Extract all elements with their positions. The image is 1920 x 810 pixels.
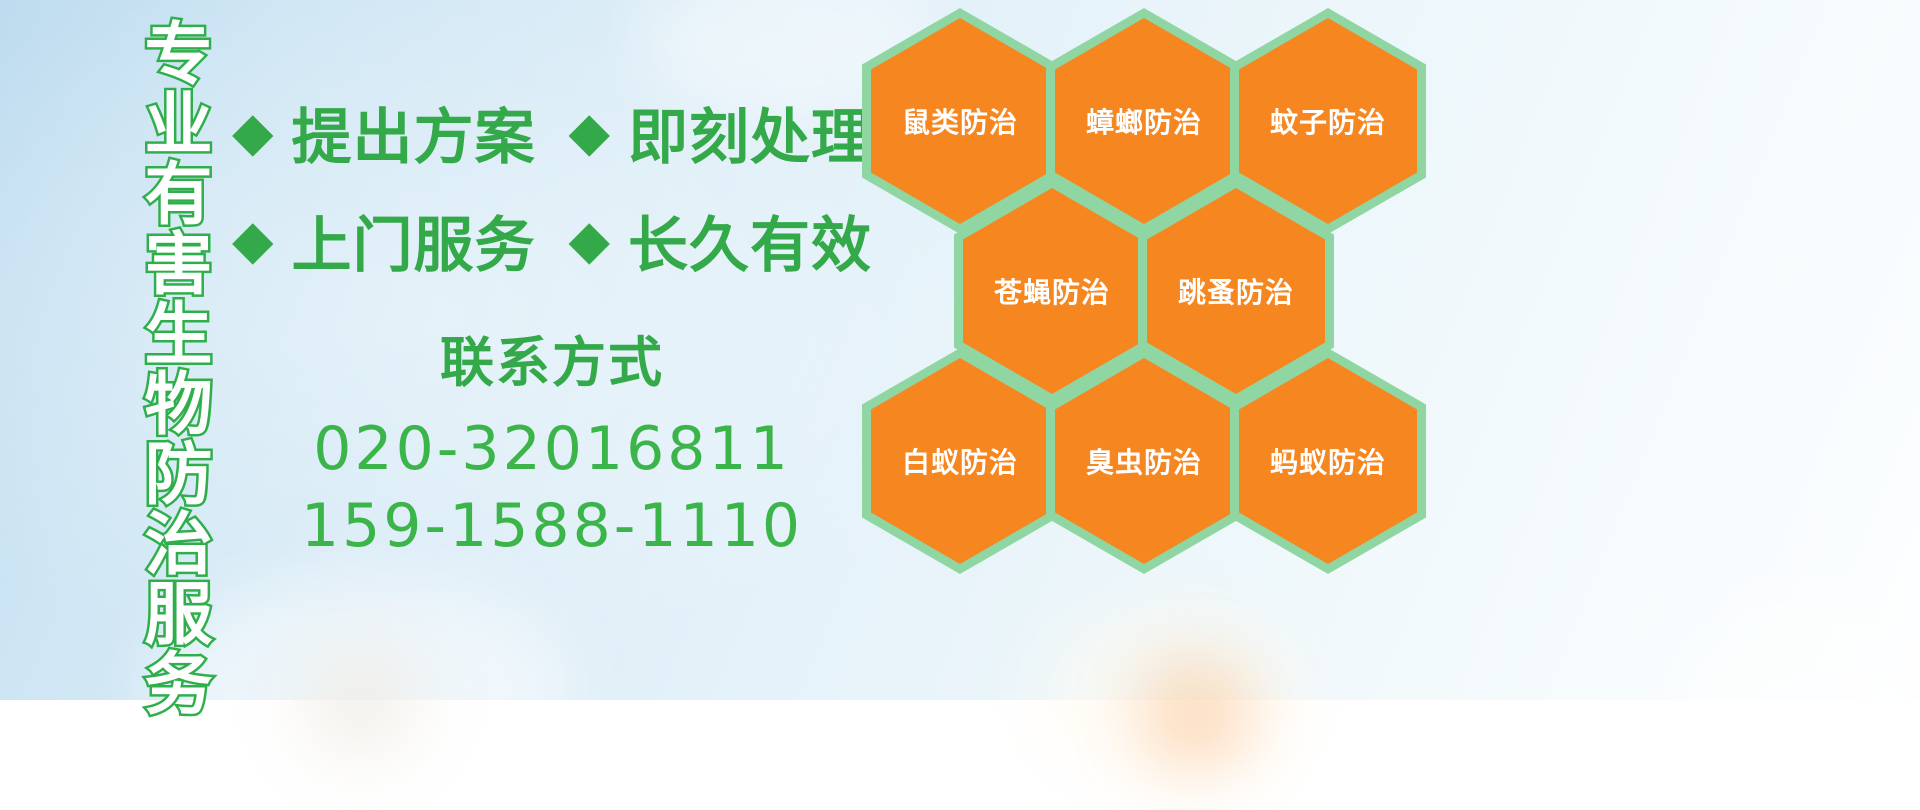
pest-control-banner: 专业有害生物防治服务 ◆ 提出方案 ◆ 即刻处理 ◆ 上门服务 ◆ 长久有效 — [0, 0, 1920, 700]
hex-label: 苍蝇防治 — [994, 271, 1110, 311]
vertical-headline: 专业有害生物防治服务 — [108, 18, 204, 562]
feature-row: ◆ 提出方案 ◆ 即刻处理 — [232, 78, 872, 186]
hex-label: 蚊子防治 — [1270, 101, 1386, 141]
feature-item: ◆ 提出方案 — [232, 89, 536, 176]
service-honeycomb: 鼠类防治 蟑螂防治 蚊子防治 苍蝇防治 跳蚤防治 白蚁防治 臭虫防治 蚂蚁防治 — [856, 0, 1476, 580]
diamond-bullet-icon: ◆ — [232, 105, 274, 159]
phone-number-landline[interactable]: 020-32016811 — [232, 411, 872, 488]
hex-label: 蚂蚁防治 — [1270, 441, 1386, 481]
hex-label: 鼠类防治 — [902, 101, 1018, 141]
background-bokeh-blob — [1140, 660, 1250, 770]
feature-label: 长久有效 — [628, 197, 872, 284]
feature-row: ◆ 上门服务 ◆ 长久有效 — [232, 186, 872, 294]
hex-label: 白蚁防治 — [902, 441, 1018, 481]
hex-label: 跳蚤防治 — [1178, 271, 1294, 311]
diamond-bullet-icon: ◆ — [568, 105, 610, 159]
background-bokeh-blob — [1040, 610, 1300, 780]
feature-item: ◆ 上门服务 — [232, 197, 536, 284]
phone-number-mobile[interactable]: 159-1588-1110 — [232, 488, 872, 565]
feature-label: 即刻处理 — [628, 89, 872, 176]
hex-label: 蟑螂防治 — [1086, 101, 1202, 141]
feature-item: ◆ 长久有效 — [568, 197, 872, 284]
contact-title: 联系方式 — [232, 318, 872, 397]
feature-item: ◆ 即刻处理 — [568, 89, 872, 176]
feature-label: 上门服务 — [292, 197, 536, 284]
background-bokeh-blob — [300, 640, 420, 760]
feature-label: 提出方案 — [292, 89, 536, 176]
feature-list: ◆ 提出方案 ◆ 即刻处理 ◆ 上门服务 ◆ 长久有效 — [232, 78, 872, 294]
contact-block: 联系方式 020-32016811 159-1588-1110 — [232, 318, 872, 565]
background-bokeh-blob — [150, 580, 570, 790]
hex-label: 臭虫防治 — [1086, 441, 1202, 481]
diamond-bullet-icon: ◆ — [232, 213, 274, 267]
background-bokeh-blob — [1660, 590, 1920, 810]
diamond-bullet-icon: ◆ — [568, 213, 610, 267]
